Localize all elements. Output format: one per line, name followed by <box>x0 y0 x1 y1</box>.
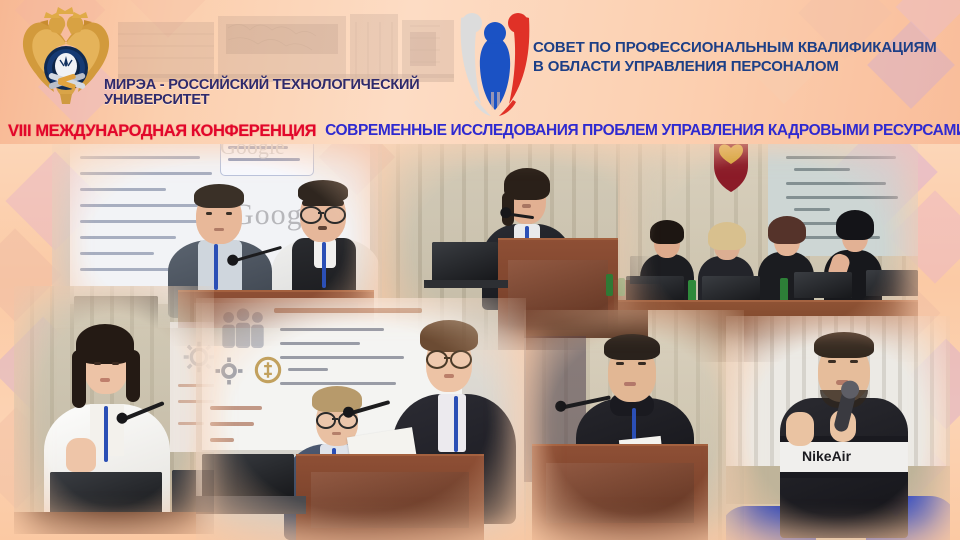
russian-double-headed-eagle-emblem <box>14 2 118 114</box>
photo-two-students-labour-slide <box>196 298 526 540</box>
photo-man-black-turtleneck <box>524 310 744 540</box>
laptop <box>794 272 852 298</box>
laptop <box>626 276 684 302</box>
council-name: СОВЕТ ПО ПРОФЕССИОНАЛЬНЫМ КВАЛИФИКАЦИЯМ … <box>533 38 953 76</box>
photo-collage: Google Google <box>0 144 960 540</box>
university-name-line2: УНИВЕРСИТЕТ <box>104 93 464 108</box>
photo-young-woman-speaker <box>14 286 214 534</box>
laptop <box>202 454 294 500</box>
speaker-person: NikeAir <box>780 332 908 532</box>
council-name-line2: В ОБЛАСТИ УПРАВЛЕНИЯ ПЕРСОНАЛОМ <box>533 57 953 76</box>
three-figures-spk-logo <box>447 6 543 118</box>
university-name-line1: МИРЭА - РОССИЙСКИЙ ТЕХНОЛОГИЧЕСКИЙ <box>104 77 420 93</box>
podium <box>532 444 708 540</box>
people-group-icon <box>216 308 270 352</box>
laptop <box>432 242 498 280</box>
eyeglasses-icon <box>450 350 472 369</box>
conference-title-bar: VIII МЕЖДУНАРОДНАЯ КОНФЕРЕНЦИЯ СОВРЕМЕНН… <box>0 118 960 144</box>
conference-banner-slide: МИРЭА - РОССИЙСКИЙ ТЕХНОЛОГИЧЕСКИЙ УНИВЕ… <box>0 0 960 540</box>
russian-coat-of-arms-icon <box>710 144 752 192</box>
eyeglasses-icon <box>316 412 336 429</box>
podium <box>296 454 484 540</box>
photo-man-with-microphone: NikeAir <box>726 316 950 540</box>
conference-number-label: VIII МЕЖДУНАРОДНАЯ КОНФЕРЕНЦИЯ <box>8 122 316 141</box>
university-name: МИРЭА - РОССИЙСКИЙ ТЕХНОЛОГИЧЕСКИЙ УНИВЕ… <box>104 78 464 108</box>
banner-header: МИРЭА - РОССИЙСКИЙ ТЕХНОЛОГИЧЕСКИЙ УНИВЕ… <box>0 0 960 146</box>
laptop <box>702 276 760 302</box>
laptop <box>866 270 918 296</box>
gear-icon <box>214 356 244 386</box>
eyeglasses-icon <box>324 206 346 224</box>
conference-topic-label: СОВРЕМЕННЫЕ ИССЛЕДОВАНИЯ ПРОБЛЕМ УПРАВЛЕ… <box>325 122 960 140</box>
council-name-line1: СОВЕТ ПО ПРОФЕССИОНАЛЬНЫМ КВАЛИФИКАЦИЯМ <box>533 39 937 56</box>
eyeglasses-icon <box>300 206 322 224</box>
dollar-coin-icon <box>254 356 282 384</box>
eyeglasses-icon <box>426 350 448 369</box>
